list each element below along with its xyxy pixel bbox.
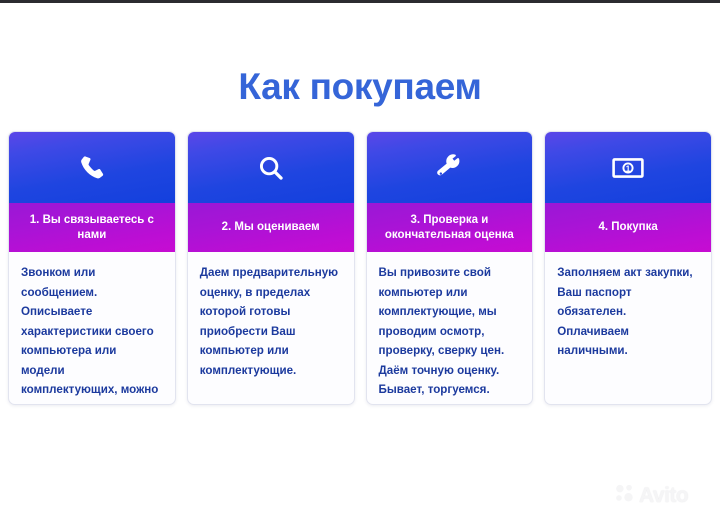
step-card-2-title: 2. Мы оцениваем bbox=[222, 220, 320, 235]
step-card-3-body: Вы привозите свой компьютер или комплект… bbox=[367, 252, 533, 405]
step-card-3-text: Вы привозите свой компьютер или комплект… bbox=[379, 263, 521, 400]
banknote-icon: 1 bbox=[612, 156, 644, 180]
step-card-4-text: Заполняем акт закупки, Ваш паспорт обяза… bbox=[557, 263, 699, 361]
step-card-3-title: 3. Проверка и окончательная оценка bbox=[376, 213, 524, 243]
step-card-1-title-band: 1. Вы связываетесь с нами bbox=[9, 203, 175, 252]
step-card-4-icon-area: 1 bbox=[545, 132, 711, 203]
search-icon bbox=[257, 154, 285, 182]
step-card-1-icon-area bbox=[9, 132, 175, 203]
step-card-2-icon-area bbox=[188, 132, 354, 203]
step-card-3-title-band: 3. Проверка и окончательная оценка bbox=[367, 203, 533, 252]
step-card-2-text: Даем предварительную оценку, в пределах … bbox=[200, 263, 342, 380]
step-card-1: 1. Вы связываетесь с нами Звонком или со… bbox=[8, 131, 176, 405]
step-card-2-body: Даем предварительную оценку, в пределах … bbox=[188, 252, 354, 404]
step-card-4-title: 4. Покупка bbox=[598, 220, 657, 235]
step-card-1-text: Звонком или сообщением. Описываете харак… bbox=[21, 263, 163, 405]
top-edge-strip bbox=[0, 0, 720, 3]
svg-text:1: 1 bbox=[626, 164, 631, 173]
steps-card-list: 1. Вы связываетесь с нами Звонком или со… bbox=[8, 131, 712, 405]
step-card-3-icon-area bbox=[367, 132, 533, 203]
avito-logo-icon bbox=[614, 482, 636, 509]
avito-watermark: Avito bbox=[614, 482, 688, 509]
step-card-3: 3. Проверка и окончательная оценка Вы пр… bbox=[366, 131, 534, 405]
avito-watermark-label: Avito bbox=[639, 485, 688, 506]
step-card-4: 1 4. Покупка Заполняем акт закупки, Ваш … bbox=[544, 131, 712, 405]
page-title: Как покупаем bbox=[0, 66, 720, 108]
phone-icon bbox=[78, 154, 106, 182]
step-card-4-title-band: 4. Покупка bbox=[545, 203, 711, 252]
step-card-2-title-band: 2. Мы оцениваем bbox=[188, 203, 354, 252]
step-card-4-body: Заполняем акт закупки, Ваш паспорт обяза… bbox=[545, 252, 711, 404]
step-card-1-title: 1. Вы связываетесь с нами bbox=[18, 213, 166, 243]
wrench-icon bbox=[435, 154, 463, 182]
step-card-2: 2. Мы оцениваем Даем предварительную оце… bbox=[187, 131, 355, 405]
step-card-1-body: Звонком или сообщением. Описываете харак… bbox=[9, 252, 175, 405]
